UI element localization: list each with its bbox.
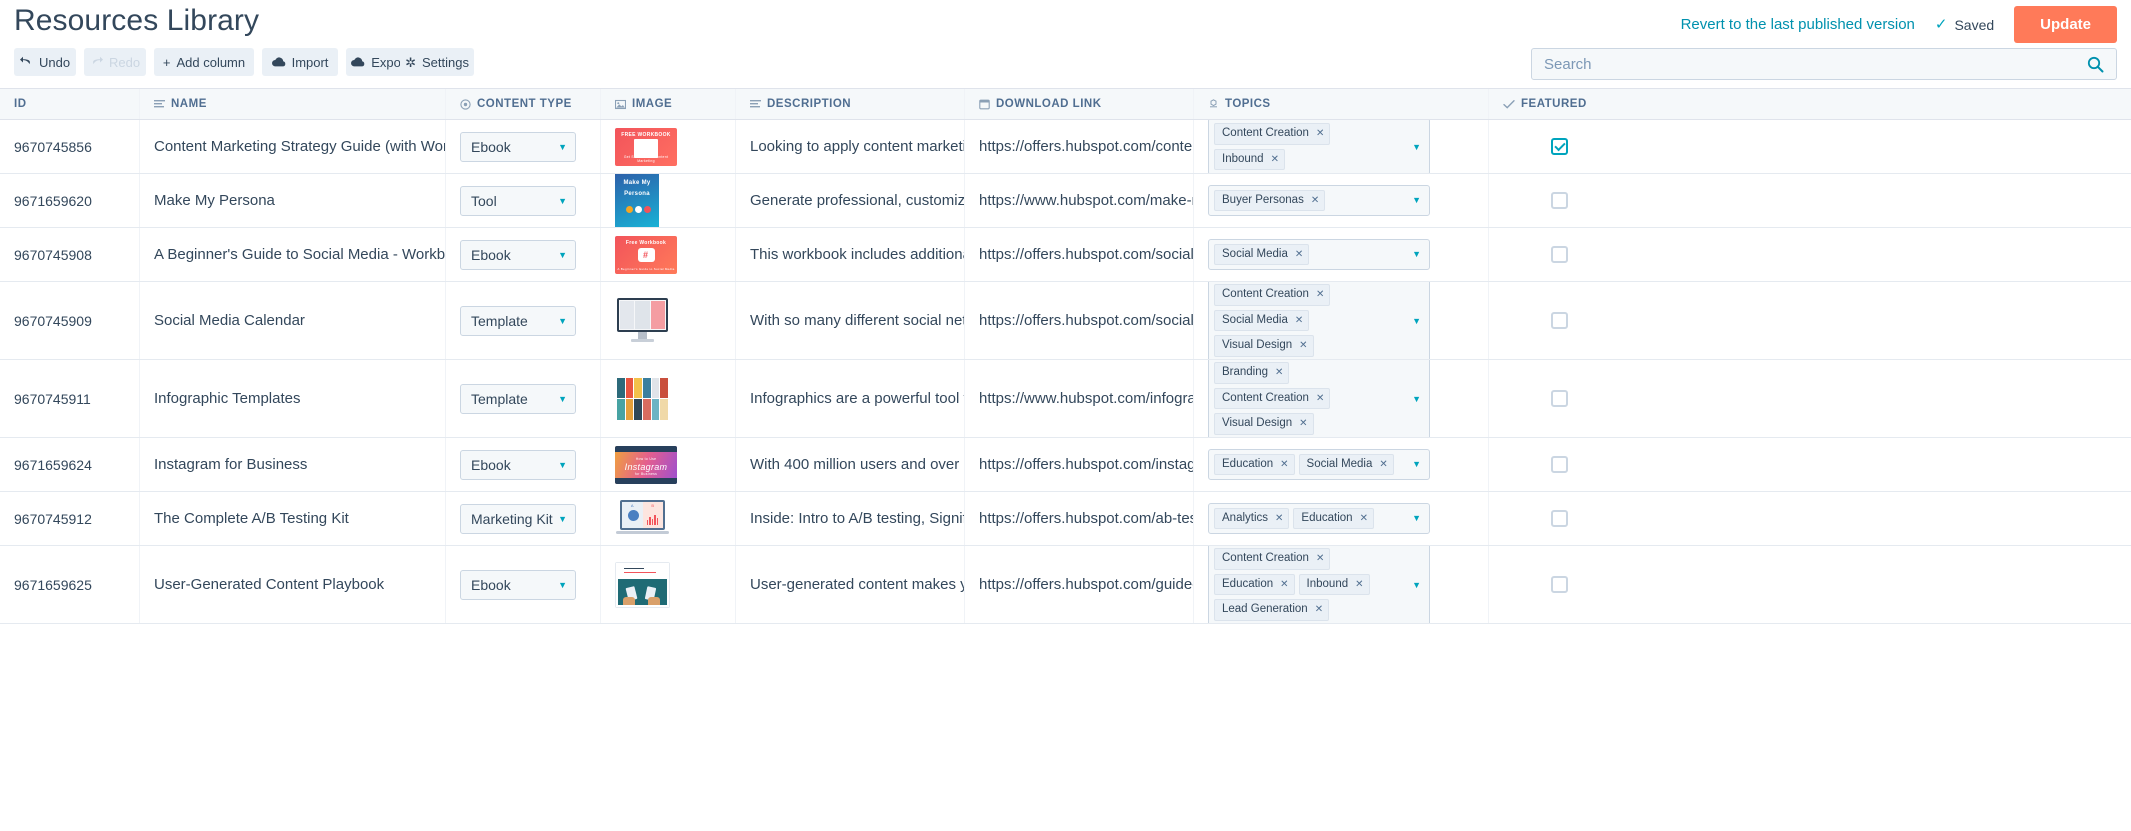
remove-topic-icon[interactable]: ✕ [1316, 127, 1324, 141]
column-header-label: IMAGE [632, 98, 672, 110]
row-download-link: https://offers.hubspot.com/instagra [979, 456, 1193, 473]
content-type-value: Ebook [471, 139, 511, 155]
row-id: 9670745909 [14, 313, 92, 329]
cell-download-link[interactable]: https://offers.hubspot.com/ab-testi [965, 492, 1194, 545]
column-header-label: TOPICS [1225, 98, 1271, 110]
save-status: ✓ Saved [1935, 17, 1994, 33]
chevron-down-icon[interactable]: ▼ [1412, 316, 1421, 326]
chevron-down-icon: ▼ [558, 394, 567, 404]
cell-id[interactable]: 9670745856 [0, 120, 140, 173]
cell-featured[interactable] [1489, 546, 1789, 623]
undo-button[interactable]: Undo [14, 48, 76, 76]
topic-tag-label: Content Creation [1222, 391, 1309, 407]
cell-content-type[interactable]: Ebook▼ [446, 228, 601, 281]
row-download-link: https://www.hubspot.com/make-my [979, 192, 1193, 209]
page-title: Resources Library [14, 4, 259, 38]
row-thumbnail-image: AB [615, 496, 670, 542]
undo-label: Undo [39, 55, 70, 70]
content-type-select[interactable]: Template▼ [460, 306, 576, 336]
column-header-label: NAME [171, 98, 207, 110]
row-name: Instagram for Business [154, 456, 307, 473]
cell-name[interactable]: The Complete A/B Testing Kit [140, 492, 446, 545]
cell-description[interactable]: This workbook includes additional r [736, 228, 965, 281]
featured-checkbox[interactable] [1551, 312, 1568, 329]
topics-multiselect[interactable]: Education✕Social Media✕▼ [1208, 449, 1430, 481]
cell-name[interactable]: User-Generated Content Playbook [140, 546, 446, 623]
topic-tag: Education✕ [1214, 574, 1295, 596]
topic-tag: Social Media✕ [1214, 310, 1309, 332]
featured-checkbox[interactable] [1551, 138, 1568, 155]
redo-icon [90, 56, 103, 68]
topic-tag-label: Buyer Personas [1222, 193, 1304, 209]
add-column-button[interactable]: + Add column [154, 48, 254, 76]
chevron-down-icon[interactable]: ▼ [1412, 459, 1421, 469]
topic-tag: Social Media✕ [1214, 244, 1309, 266]
cell-content-type[interactable]: Ebook▼ [446, 438, 601, 491]
import-button[interactable]: Import [262, 48, 338, 76]
topics-multiselect[interactable]: Content Creation✕Education✕Inbound✕Lead … [1208, 546, 1430, 623]
content-type-value: Template [471, 313, 528, 329]
content-type-select[interactable]: Ebook▼ [460, 450, 576, 480]
topic-tag-label: Content Creation [1222, 287, 1309, 303]
topic-tag: Branding✕ [1214, 362, 1289, 384]
topics-multiselect[interactable]: Branding✕Content Creation✕Visual Design✕… [1208, 360, 1430, 437]
table-row[interactable]: 9670745908A Beginner's Guide to Social M… [0, 228, 2131, 282]
remove-topic-icon[interactable]: ✕ [1280, 578, 1288, 592]
row-id: 9671659625 [14, 577, 92, 593]
cell-featured[interactable] [1489, 228, 1789, 281]
topic-tag-label: Content Creation [1222, 126, 1309, 142]
row-download-link: https://offers.hubspot.com/social-m [979, 312, 1193, 329]
remove-topic-icon[interactable]: ✕ [1355, 578, 1363, 592]
cell-featured[interactable] [1489, 282, 1789, 359]
column-header-label: DOWNLOAD LINK [996, 98, 1102, 110]
check-icon [1503, 99, 1515, 110]
topic-tag: Buyer Personas✕ [1214, 190, 1325, 212]
row-name: Social Media Calendar [154, 312, 305, 329]
chevron-down-icon: ▼ [558, 580, 567, 590]
chevron-down-icon: ▼ [558, 316, 567, 326]
cell-id[interactable]: 9670745909 [0, 282, 140, 359]
image-icon [615, 99, 626, 110]
row-description: With 400 million users and over 80 [750, 456, 964, 473]
column-header-desc[interactable]: DESCRIPTION [736, 89, 965, 119]
topic-tag: Visual Design✕ [1214, 335, 1314, 357]
column-header-label: DESCRIPTION [767, 98, 851, 110]
app-header: Resources Library Revert to the last pub… [0, 0, 2131, 48]
featured-checkbox[interactable] [1551, 510, 1568, 527]
topics-multiselect[interactable]: Content Creation✕Social Media✕Visual Des… [1208, 282, 1430, 359]
topic-tag: Content Creation✕ [1214, 388, 1330, 410]
cell-name[interactable]: A Beginner's Guide to Social Media - Wor… [140, 228, 446, 281]
select-icon [460, 99, 471, 110]
topic-tag: Inbound✕ [1299, 574, 1370, 596]
topic-tag-label: Education [1222, 577, 1273, 593]
table-header-row: IDNAMECONTENT TYPEIMAGEDESCRIPTIONDOWNLO… [0, 88, 2131, 120]
remove-topic-icon[interactable]: ✕ [1311, 194, 1319, 208]
topic-tag-label: Inbound [1222, 152, 1264, 168]
topic-tag-label: Branding [1222, 365, 1268, 381]
cell-topics[interactable]: Analytics✕Education✕▼ [1194, 492, 1489, 545]
cell-content-type[interactable]: Marketing Kit▼ [446, 492, 601, 545]
topic-tag-label: Social Media [1307, 457, 1373, 473]
chevron-down-icon: ▼ [558, 142, 567, 152]
remove-topic-icon[interactable]: ✕ [1275, 366, 1283, 380]
import-label: Import [292, 55, 329, 70]
row-thumbnail-image [615, 298, 670, 344]
check-icon: ✓ [1935, 17, 1948, 32]
cell-name[interactable]: Social Media Calendar [140, 282, 446, 359]
plus-icon: + [163, 56, 171, 69]
topic-tag-label: Visual Design [1222, 416, 1292, 432]
row-description: With so many different social netwo [750, 312, 964, 329]
search-box[interactable] [1531, 48, 2117, 80]
cell-featured[interactable] [1489, 360, 1789, 437]
topics-multiselect[interactable]: Buyer Personas✕▼ [1208, 185, 1430, 217]
cell-image[interactable] [601, 360, 736, 437]
row-download-link: https://offers.hubspot.com/content [979, 138, 1193, 155]
row-id: 9670745856 [14, 139, 92, 155]
topic-tag-label: Visual Design [1222, 338, 1292, 354]
chevron-down-icon: ▼ [558, 250, 567, 260]
topic-tag: Content Creation✕ [1214, 284, 1330, 306]
column-header-type[interactable]: CONTENT TYPE [446, 89, 601, 119]
cell-id[interactable]: 9671659625 [0, 546, 140, 623]
cloud-download-icon [351, 57, 365, 68]
topic-tag-label: Education [1301, 511, 1352, 527]
chevron-down-icon: ▼ [558, 196, 567, 206]
cell-featured[interactable] [1489, 120, 1789, 173]
cell-download-link[interactable]: https://www.hubspot.com/infograp [965, 360, 1194, 437]
topic-tag: Social Media✕ [1299, 454, 1394, 476]
search-icon[interactable] [2087, 56, 2116, 73]
topic-tag-label: Content Creation [1222, 551, 1309, 567]
cell-id[interactable]: 9671659620 [0, 174, 140, 227]
cloud-upload-icon [272, 57, 286, 68]
row-thumbnail-image: FREE WORKBOOKGet Started with Content Ma… [615, 128, 677, 166]
column-header-name[interactable]: NAME [140, 89, 446, 119]
revert-to-published-link[interactable]: Revert to the last published version [1681, 16, 1915, 33]
column-header-label: FEATURED [1521, 98, 1587, 110]
topic-tag: Education✕ [1214, 454, 1295, 476]
table-row[interactable]: 9670745856Content Marketing Strategy Gui… [0, 120, 2131, 174]
row-thumbnail-image: Make MyPersona [615, 174, 659, 227]
topic-tag: Education✕ [1293, 508, 1374, 530]
chevron-down-icon: ▼ [558, 514, 567, 524]
cell-description[interactable]: User-generated content makes your [736, 546, 965, 623]
cell-description[interactable]: Infographics are a powerful tool for [736, 360, 965, 437]
remove-topic-icon[interactable]: ✕ [1280, 458, 1288, 472]
redo-label: Redo [109, 55, 140, 70]
content-type-select[interactable]: Ebook▼ [460, 240, 576, 270]
remove-topic-icon[interactable]: ✕ [1316, 288, 1324, 302]
remove-topic-icon[interactable]: ✕ [1316, 392, 1324, 406]
cell-description[interactable]: Inside: Intro to A/B testing, Significa [736, 492, 965, 545]
column-header-id[interactable]: ID [0, 89, 140, 119]
topic-tag-label: Social Media [1222, 247, 1288, 263]
add-column-label: Add column [176, 55, 245, 70]
settings-button[interactable]: ✲ Settings [400, 48, 474, 76]
topic-tag: Lead Generation✕ [1214, 599, 1329, 621]
cell-topics[interactable]: Social Media✕▼ [1194, 228, 1489, 281]
cell-download-link[interactable]: https://offers.hubspot.com/social-m [965, 282, 1194, 359]
content-type-value: Ebook [471, 577, 511, 593]
row-id: 9670745912 [14, 511, 92, 527]
cell-download-link[interactable]: https://offers.hubspot.com/instagra [965, 438, 1194, 491]
row-description: User-generated content makes your [750, 576, 964, 593]
topic-tag-label: Inbound [1307, 577, 1349, 593]
header-actions: Revert to the last published version ✓ S… [1681, 6, 2117, 43]
cell-topics[interactable]: Buyer Personas✕▼ [1194, 174, 1489, 227]
remove-topic-icon[interactable]: ✕ [1271, 153, 1279, 167]
cell-id[interactable]: 9670745908 [0, 228, 140, 281]
column-header-label: CONTENT TYPE [477, 98, 572, 110]
text-icon [750, 99, 761, 110]
cell-id[interactable]: 9671659624 [0, 438, 140, 491]
row-download-link: https://offers.hubspot.com/social-m [979, 246, 1193, 263]
content-type-value: Marketing Kit [471, 511, 553, 527]
topic-tag: Inbound✕ [1214, 149, 1285, 171]
cell-content-type[interactable]: Template▼ [446, 282, 601, 359]
cell-description[interactable]: Looking to apply content marketing [736, 120, 965, 173]
spreadsheet-app: Resources Library Revert to the last pub… [0, 0, 2131, 831]
column-header-feat[interactable]: FEATURED [1489, 89, 1789, 119]
chevron-down-icon: ▼ [558, 460, 567, 470]
chevron-down-icon[interactable]: ▼ [1412, 394, 1421, 404]
row-name: The Complete A/B Testing Kit [154, 510, 349, 527]
table-row[interactable]: 9670745909Social Media CalendarTemplate▼… [0, 282, 2131, 360]
file-icon [979, 99, 990, 110]
cell-image[interactable]: AB [601, 492, 736, 545]
content-type-value: Template [471, 391, 528, 407]
remove-topic-icon[interactable]: ✕ [1379, 458, 1387, 472]
cell-name[interactable]: Make My Persona [140, 174, 446, 227]
remove-topic-icon[interactable]: ✕ [1299, 417, 1307, 431]
gear-icon: ✲ [405, 56, 416, 69]
remove-topic-icon[interactable]: ✕ [1295, 314, 1303, 328]
row-description: Generate professional, customizabl [750, 192, 964, 209]
save-status-label: Saved [1954, 17, 1994, 33]
content-type-select[interactable]: Template▼ [460, 384, 576, 414]
row-name: User-Generated Content Playbook [154, 576, 384, 593]
redo-button[interactable]: Redo [84, 48, 146, 76]
row-name: Infographic Templates [154, 390, 300, 407]
cell-topics[interactable]: Branding✕Content Creation✕Visual Design✕… [1194, 360, 1489, 437]
cell-download-link[interactable]: https://offers.hubspot.com/social-m [965, 228, 1194, 281]
column-header-link[interactable]: DOWNLOAD LINK [965, 89, 1194, 119]
text-icon [154, 99, 165, 110]
cell-content-type[interactable]: Template▼ [446, 360, 601, 437]
cell-image[interactable]: Make MyPersona [601, 174, 736, 227]
topics-multiselect[interactable]: Content Creation✕Inbound✕▼ [1208, 120, 1430, 173]
row-description: Inside: Intro to A/B testing, Significa [750, 510, 964, 527]
topic-tag-label: Education [1222, 457, 1273, 473]
cell-featured[interactable] [1489, 174, 1789, 227]
table-row[interactable]: 9671659625User-Generated Content Playboo… [0, 546, 2131, 624]
column-header-topics[interactable]: TOPICS [1194, 89, 1489, 119]
cell-id[interactable]: 9670745911 [0, 360, 140, 437]
cell-id[interactable]: 9670745912 [0, 492, 140, 545]
content-type-select[interactable]: Marketing Kit▼ [460, 504, 576, 534]
chevron-down-icon[interactable]: ▼ [1412, 513, 1421, 523]
remove-topic-icon[interactable]: ✕ [1295, 248, 1303, 262]
row-id: 9670745911 [14, 391, 91, 407]
remove-topic-icon[interactable]: ✕ [1275, 512, 1283, 526]
remove-topic-icon[interactable]: ✕ [1316, 552, 1324, 566]
topic-tag: Analytics✕ [1214, 508, 1289, 530]
cell-image[interactable]: How to UseInstagramfor Business [601, 438, 736, 491]
cell-name[interactable]: Infographic Templates [140, 360, 446, 437]
topic-tag: Content Creation✕ [1214, 123, 1330, 145]
chevron-down-icon[interactable]: ▼ [1412, 580, 1421, 590]
row-description: Infographics are a powerful tool for [750, 390, 964, 407]
cell-download-link[interactable]: https://offers.hubspot.com/guide-u [965, 546, 1194, 623]
remove-topic-icon[interactable]: ✕ [1315, 603, 1323, 617]
content-type-value: Ebook [471, 247, 511, 263]
cell-topics[interactable]: Content Creation✕Education✕Inbound✕Lead … [1194, 546, 1489, 623]
cell-download-link[interactable]: https://www.hubspot.com/make-my [965, 174, 1194, 227]
row-thumbnail-image [615, 562, 670, 608]
row-thumbnail-image: How to UseInstagramfor Business [615, 446, 677, 484]
cell-image[interactable]: Free Workbook#A Beginner's Guide to Soci… [601, 228, 736, 281]
cell-name[interactable]: Instagram for Business [140, 438, 446, 491]
chevron-down-icon[interactable]: ▼ [1412, 142, 1421, 152]
cell-topics[interactable]: Content Creation✕Inbound✕▼ [1194, 120, 1489, 173]
row-download-link: https://offers.hubspot.com/guide-u [979, 576, 1193, 593]
cell-topics[interactable]: Education✕Social Media✕▼ [1194, 438, 1489, 491]
row-thumbnail-image [615, 376, 670, 422]
featured-checkbox[interactable] [1551, 576, 1568, 593]
topic-tag: Content Creation✕ [1214, 548, 1330, 570]
row-download-link: https://offers.hubspot.com/ab-testi [979, 510, 1193, 527]
cell-name[interactable]: Content Marketing Strategy Guide (with W… [140, 120, 446, 173]
topic-tag: Visual Design✕ [1214, 413, 1314, 435]
row-name: Content Marketing Strategy Guide (with W… [154, 138, 445, 155]
topic-tag-label: Analytics [1222, 511, 1268, 527]
cell-topics[interactable]: Content Creation✕Social Media✕Visual Des… [1194, 282, 1489, 359]
remove-topic-icon[interactable]: ✕ [1299, 339, 1307, 353]
content-type-select[interactable]: Ebook▼ [460, 132, 576, 162]
column-header-label: ID [14, 98, 27, 110]
row-name: A Beginner's Guide to Social Media - Wor… [154, 246, 445, 263]
cell-image[interactable] [601, 546, 736, 623]
table-row[interactable]: 9670745911Infographic TemplatesTemplate▼… [0, 360, 2131, 438]
multiselect-icon [1208, 99, 1219, 110]
table-row[interactable]: 9671659620Make My PersonaTool▼Make MyPer… [0, 174, 2131, 228]
cell-featured[interactable] [1489, 492, 1789, 545]
content-type-select[interactable]: Ebook▼ [460, 570, 576, 600]
table-body: 9670745856Content Marketing Strategy Gui… [0, 120, 2131, 624]
row-thumbnail-image: Free Workbook#A Beginner's Guide to Soci… [615, 236, 677, 274]
topic-tag-label: Social Media [1222, 313, 1288, 329]
topics-multiselect[interactable]: Analytics✕Education✕▼ [1208, 503, 1430, 535]
undo-icon [20, 56, 33, 68]
toolbar: Undo Redo + Add column Import Export ▼ [0, 48, 2131, 88]
featured-checkbox[interactable] [1551, 390, 1568, 407]
featured-checkbox[interactable] [1551, 246, 1568, 263]
content-type-value: Ebook [471, 457, 511, 473]
settings-label: Settings [422, 55, 469, 70]
row-id: 9670745908 [14, 247, 92, 263]
cell-download-link[interactable]: https://offers.hubspot.com/content [965, 120, 1194, 173]
cell-description[interactable]: With 400 million users and over 80 [736, 438, 965, 491]
topic-tag-label: Lead Generation [1222, 602, 1308, 618]
row-download-link: https://www.hubspot.com/infograp [979, 390, 1193, 407]
content-type-select[interactable]: Tool▼ [460, 186, 576, 216]
cell-content-type[interactable]: Ebook▼ [446, 120, 601, 173]
cell-description[interactable]: With so many different social netwo [736, 282, 965, 359]
row-id: 9671659620 [14, 193, 92, 209]
featured-checkbox[interactable] [1551, 192, 1568, 209]
column-header-image[interactable]: IMAGE [601, 89, 736, 119]
row-description: Looking to apply content marketing [750, 138, 964, 155]
content-type-value: Tool [471, 193, 497, 209]
row-id: 9671659624 [14, 457, 92, 473]
cell-content-type[interactable]: Ebook▼ [446, 546, 601, 623]
row-description: This workbook includes additional r [750, 246, 964, 263]
data-table: IDNAMECONTENT TYPEIMAGEDESCRIPTIONDOWNLO… [0, 88, 2131, 831]
cell-image[interactable] [601, 282, 736, 359]
topics-multiselect[interactable]: Social Media✕▼ [1208, 239, 1430, 271]
row-name: Make My Persona [154, 192, 275, 209]
featured-checkbox[interactable] [1551, 456, 1568, 473]
cell-description[interactable]: Generate professional, customizabl [736, 174, 965, 227]
remove-topic-icon[interactable]: ✕ [1360, 512, 1368, 526]
search-input[interactable] [1532, 56, 2087, 73]
cell-image[interactable]: FREE WORKBOOKGet Started with Content Ma… [601, 120, 736, 173]
cell-content-type[interactable]: Tool▼ [446, 174, 601, 227]
chevron-down-icon[interactable]: ▼ [1412, 249, 1421, 259]
chevron-down-icon[interactable]: ▼ [1412, 195, 1421, 205]
table-row[interactable]: 9671659624Instagram for BusinessEbook▼Ho… [0, 438, 2131, 492]
cell-featured[interactable] [1489, 438, 1789, 491]
table-row[interactable]: 9670745912The Complete A/B Testing KitMa… [0, 492, 2131, 546]
update-button[interactable]: Update [2014, 6, 2117, 43]
